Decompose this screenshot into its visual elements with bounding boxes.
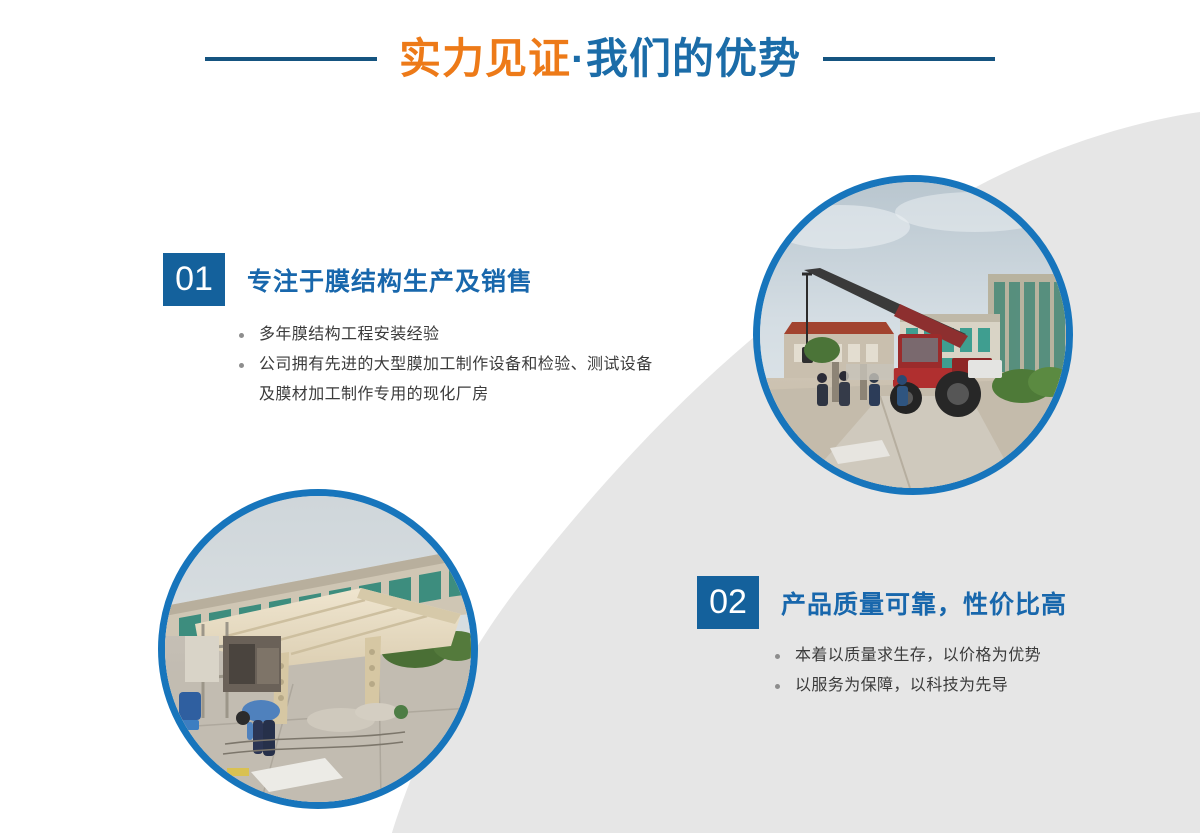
page-title: 实力见证·我们的优势 — [399, 38, 801, 80]
canopy-photo-illustration — [165, 496, 471, 802]
left-rule-divider — [205, 57, 377, 61]
feature-01-bullet-2: 公司拥有先进的大型膜加工制作设备和检验、测试设备及膜材加工制作专用的现化厂房 — [237, 350, 667, 410]
feature-01-bullet-list: 多年膜结构工程安装经验 公司拥有先进的大型膜加工制作设备和检验、测试设备及膜材加… — [237, 320, 667, 410]
page-header: 实力见证·我们的优势 — [0, 0, 1200, 112]
page-title-primary: 实力见证 — [399, 35, 571, 82]
feature-02-title: 产品质量可靠，性价比高 — [781, 585, 1067, 621]
feature-block-01: 01 专注于膜结构生产及销售 多年膜结构工程安装经验 公司拥有先进的大型膜加工制… — [163, 253, 683, 410]
feature-block-02: 02 产品质量可靠，性价比高 本着以质量求生存，以价格为优势 以服务为保障，以科… — [697, 576, 1157, 701]
feature-02-bullet-2: 以服务为保障，以科技为先导 — [773, 671, 1153, 701]
page-title-secondary: ·我们的优势 — [571, 35, 801, 82]
right-rule-divider — [823, 57, 995, 61]
feature-01-header: 01 专注于膜结构生产及销售 — [163, 253, 683, 306]
feature-02-number-badge: 02 — [697, 576, 759, 629]
feature-02-bullet-1: 本着以质量求生存，以价格为优势 — [773, 641, 1153, 671]
feature-02-header: 02 产品质量可靠，性价比高 — [697, 576, 1157, 629]
photo-membrane-canopy — [158, 489, 478, 809]
feature-01-bullet-1: 多年膜结构工程安装经验 — [237, 320, 667, 350]
feature-01-title: 专注于膜结构生产及销售 — [247, 262, 533, 298]
crane-photo-illustration — [760, 182, 1066, 488]
photo-crane-construction — [753, 175, 1073, 495]
feature-01-number-badge: 01 — [163, 253, 225, 306]
advantages-banner: 实力见证·我们的优势 — [0, 0, 1200, 833]
feature-02-bullet-list: 本着以质量求生存，以价格为优势 以服务为保障，以科技为先导 — [773, 641, 1153, 701]
